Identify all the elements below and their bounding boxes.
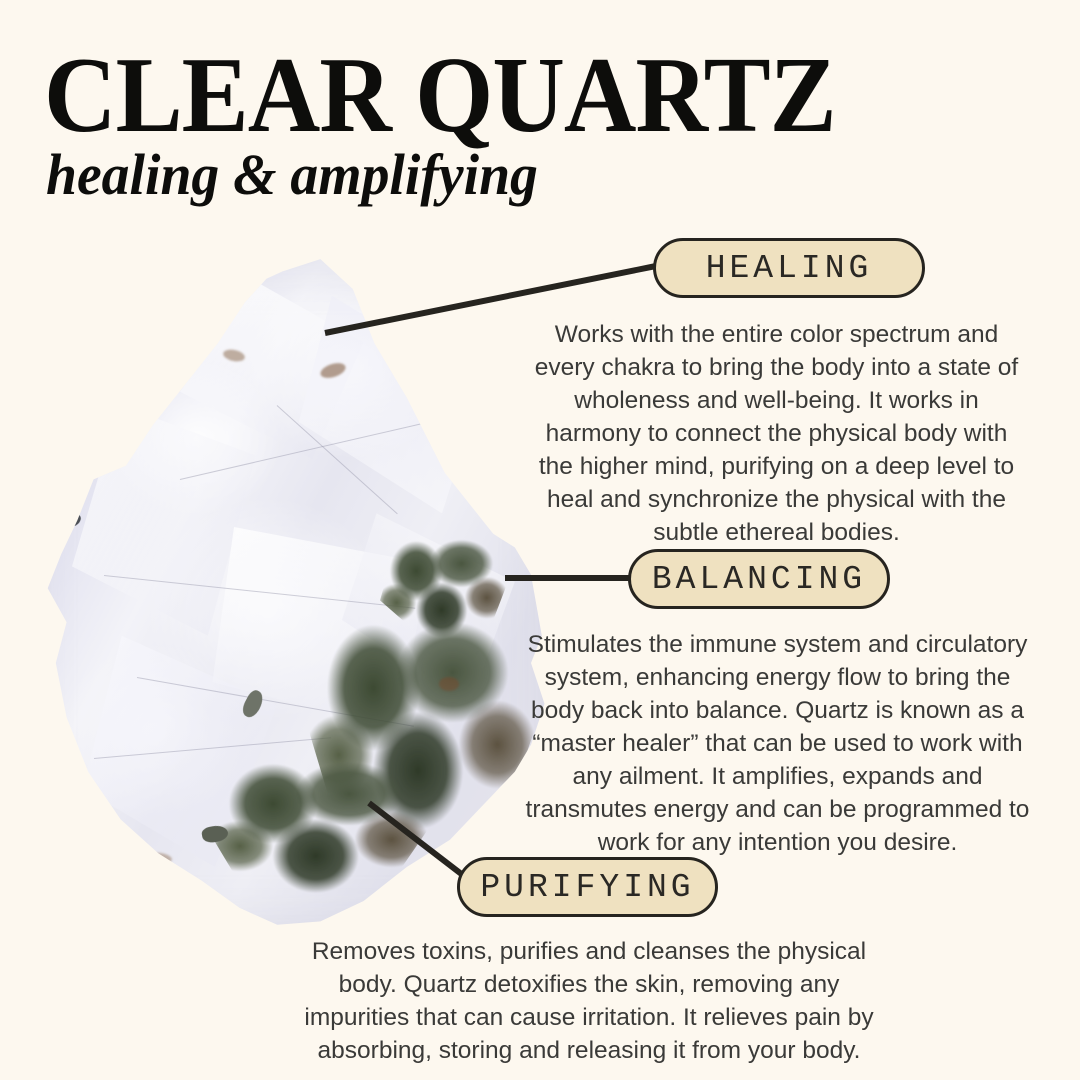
crystal-facet <box>342 513 515 703</box>
crystal-facet <box>299 296 483 514</box>
crystal-fracture <box>94 737 331 759</box>
page-title: CLEAR QUARTZ <box>44 42 836 150</box>
section-body-purifying: Removes toxins, purifies and cleanses th… <box>285 935 893 1067</box>
chlorite-inclusion <box>374 527 514 649</box>
page-subtitle: healing & amplifying <box>46 146 538 204</box>
crystal-fracture <box>180 424 422 481</box>
iron-stain <box>439 677 459 691</box>
chlorite-inclusion <box>202 745 440 908</box>
iron-stain <box>222 348 246 363</box>
mineral-speck <box>200 824 228 844</box>
crystal-silhouette <box>18 255 558 935</box>
mineral-speck <box>239 688 266 720</box>
section-label-balancing[interactable]: BALANCING <box>628 549 890 609</box>
crystal-fracture <box>104 575 416 609</box>
mineral-speck <box>59 510 83 531</box>
section-label-healing[interactable]: HEALING <box>653 238 925 298</box>
clear-quartz-image <box>18 255 558 935</box>
section-body-healing: Works with the entire color spectrum and… <box>533 318 1020 549</box>
infographic-canvas: CLEAR QUARTZ healing & amplifying <box>0 0 1080 1080</box>
iron-stain <box>147 852 172 865</box>
crystal-fracture <box>277 405 398 514</box>
section-label-purifying[interactable]: PURIFYING <box>457 857 718 917</box>
crystal-facet <box>72 405 256 636</box>
iron-stain <box>319 360 348 380</box>
crystal-fracture <box>137 677 414 727</box>
section-body-balancing: Stimulates the immune system and circula… <box>521 628 1034 859</box>
chlorite-inclusion <box>299 595 547 853</box>
